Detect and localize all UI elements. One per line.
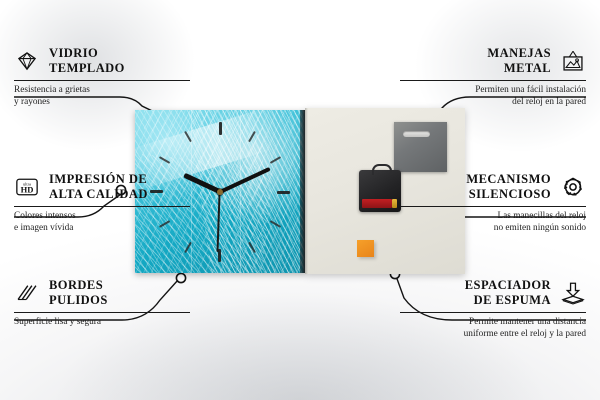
polished-edges-icon (14, 280, 40, 306)
callout-divider (14, 206, 190, 207)
clock-tick-3 (220, 191, 290, 193)
clock-movement-box (359, 170, 401, 212)
infographic-canvas: VIDRIO TEMPLADO Resistencia a grietas y … (0, 0, 600, 400)
callout-divider (14, 80, 190, 81)
callout-description: Permiten una fácil instalación del reloj… (400, 84, 586, 109)
callout-title: BORDES PULIDOS (49, 278, 108, 308)
movement-hanging-loop (372, 164, 392, 175)
callout-description: Las manecillas del reloj no emiten ningú… (400, 210, 586, 235)
callout-title: MECANISMO SILENCIOSO (466, 172, 551, 202)
callout-divider (14, 312, 190, 313)
callout-manejas-metal: MANEJAS METAL Permiten una fácil instala… (400, 46, 586, 108)
gear-icon (560, 174, 586, 200)
ultra-hd-icon: ultra HD (14, 174, 40, 200)
callout-espaciador-de-espuma: ESPACIADOR DE ESPUMA Permite mantener un… (400, 278, 586, 340)
callout-vidrio-templado: VIDRIO TEMPLADO Resistencia a grietas y … (14, 46, 190, 108)
callout-title: IMPRESIÓN DE ALTA CALIDAD (49, 172, 148, 202)
foam-spacer-square (357, 240, 374, 257)
callout-title: VIDRIO TEMPLADO (49, 46, 125, 76)
callout-description: Colores intensos e imagen vívida (14, 210, 190, 235)
callout-divider (400, 312, 586, 313)
callout-title: ESPACIADOR DE ESPUMA (465, 278, 551, 308)
foam-spacer-icon (560, 280, 586, 306)
callout-divider (400, 80, 586, 81)
hanger-keyhole-slot (403, 131, 430, 137)
callout-mecanismo-silencioso: MECANISMO SILENCIOSO Las manecillas del … (400, 172, 586, 234)
ultra-hd-large-text: HD (21, 184, 34, 194)
battery-terminal (392, 199, 397, 208)
callout-description: Resistencia a grietas y rayones (14, 84, 190, 109)
callout-bordes-pulidos: BORDES PULIDOS Superficie lisa y segura (14, 278, 190, 328)
diamond-icon (14, 48, 40, 74)
clock-tick-12 (219, 122, 221, 192)
battery (362, 199, 392, 208)
clock-center-cap (217, 189, 223, 195)
callout-description: Superficie lisa y segura (14, 316, 190, 328)
metal-hanger-plate (394, 122, 447, 172)
callout-impresion-alta-calidad: ultra HD IMPRESIÓN DE ALTA CALIDAD Color… (14, 172, 190, 234)
picture-frame-icon (560, 48, 586, 74)
callout-description: Permite mantener una distancia uniforme … (400, 316, 586, 341)
callout-title: MANEJAS METAL (487, 46, 551, 76)
callout-divider (400, 206, 586, 207)
